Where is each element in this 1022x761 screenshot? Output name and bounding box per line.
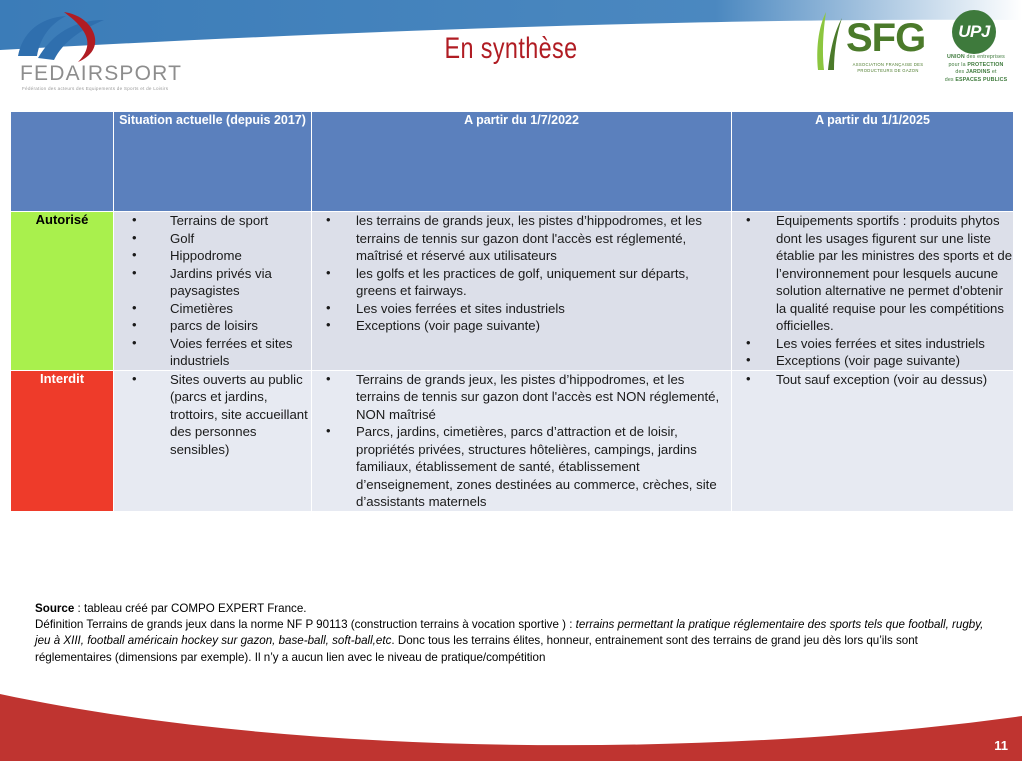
sfg-grass-icon: [812, 10, 844, 72]
cell-forbidden-2025: Tout sauf exception (voir au dessus): [732, 370, 1014, 511]
list-item: Les voies ferrées et sites industriels: [312, 300, 731, 318]
cell-forbidden-2022: Terrains de grands jeux, les pistes d’hi…: [312, 370, 732, 511]
source-line-1-rest: : tableau créé par COMPO EXPERT France.: [74, 602, 306, 615]
sfg-logo: SFG Association Française des Producteur…: [812, 10, 930, 82]
upj-sub-l1b: des entreprises: [965, 54, 1005, 60]
list-item: Terrains de grands jeux, les pistes d’hi…: [312, 371, 731, 424]
page-number: 11: [994, 738, 1008, 753]
list-item: Sites ouverts au public (parcs et jardin…: [114, 371, 311, 459]
upj-sub-l3b: JARDINS: [966, 69, 990, 75]
list-item: Voies ferrées et sites industriels: [114, 335, 311, 370]
table-header-row: Situation actuelle (depuis 2017) A parti…: [11, 112, 1014, 212]
sfg-wordmark: SFG: [846, 16, 925, 60]
upj-sub-l3a: des: [955, 69, 966, 75]
upj-badge: UPJ: [952, 10, 996, 54]
table-header-2022: A partir du 1/7/2022: [312, 112, 732, 212]
upj-sub-l4b: ESPACES PUBLICS: [955, 77, 1007, 83]
list-item: Golf: [114, 230, 311, 248]
upj-sub-l2a: pour la: [948, 62, 967, 68]
cell-authorized-current: Terrains de sport Golf Hippodrome Jardin…: [114, 212, 312, 371]
table-header-current: Situation actuelle (depuis 2017): [114, 112, 312, 212]
list-item: les golfs et les practices de golf, uniq…: [312, 265, 731, 300]
page-title: En synthèse: [112, 32, 909, 66]
list-item: Jardins privés via paysagistes: [114, 265, 311, 300]
list-item: Exceptions (voir page suivante): [312, 317, 731, 335]
cell-authorized-2022: les terrains de grands jeux, les pistes …: [312, 212, 732, 371]
cell-authorized-2025: Equipements sportifs : produits phytos d…: [732, 212, 1014, 371]
list-item: Cimetières: [114, 300, 311, 318]
upj-sub-l3c: et: [990, 69, 996, 75]
row-label-forbidden: Interdit: [11, 370, 114, 511]
source-definition-a: Définition Terrains de grands jeux dans …: [35, 618, 576, 631]
footer-red-swoosh: [0, 666, 1022, 761]
slide-header: FEDAIRSPORT Fédération des acteurs des E…: [0, 0, 1022, 104]
list-item: Terrains de sport: [114, 212, 311, 230]
source-label: Source: [35, 602, 74, 615]
list-item: Parcs, jardins, cimetières, parcs d’attr…: [312, 423, 731, 511]
cell-forbidden-current: Sites ouverts au public (parcs et jardin…: [114, 370, 312, 511]
synthesis-table: Situation actuelle (depuis 2017) A parti…: [10, 111, 1014, 512]
list-item: Tout sauf exception (voir au dessus): [732, 371, 1013, 389]
upj-sub-l2b: PROTECTION: [967, 62, 1003, 68]
table-corner-cell: [11, 112, 114, 212]
upj-sub-l1a: UNION: [947, 54, 965, 60]
list-item: parcs de loisirs: [114, 317, 311, 335]
list-item: Hippodrome: [114, 247, 311, 265]
upj-subtitle: UNION des entreprises pour la PROTECTION…: [934, 54, 1018, 84]
upj-sub-l4a: des: [945, 77, 956, 83]
row-label-authorized: Autorisé: [11, 212, 114, 371]
source-line-2: Définition Terrains de grands jeux dans …: [35, 617, 990, 666]
upj-logo: UPJ UNION des entreprises pour la PROTEC…: [934, 10, 1018, 84]
source-line-1: Source : tableau créé par COMPO EXPERT F…: [35, 601, 990, 617]
fedairsport-tagline: Fédération des acteurs des Equipements d…: [22, 86, 168, 91]
table-header-2025: A partir du 1/1/2025: [732, 112, 1014, 212]
list-item: Les voies ferrées et sites industriels: [732, 335, 1013, 353]
list-item: les terrains de grands jeux, les pistes …: [312, 212, 731, 265]
list-item: Exceptions (voir page suivante): [732, 352, 1013, 370]
sfg-subtitle: Association Française des Producteurs de…: [846, 62, 930, 74]
table-row-authorized: Autorisé Terrains de sport Golf Hippodro…: [11, 212, 1014, 371]
list-item: Equipements sportifs : produits phytos d…: [732, 212, 1013, 335]
source-note: Source : tableau créé par COMPO EXPERT F…: [35, 601, 990, 666]
table-row-forbidden: Interdit Sites ouverts au public (parcs …: [11, 370, 1014, 511]
